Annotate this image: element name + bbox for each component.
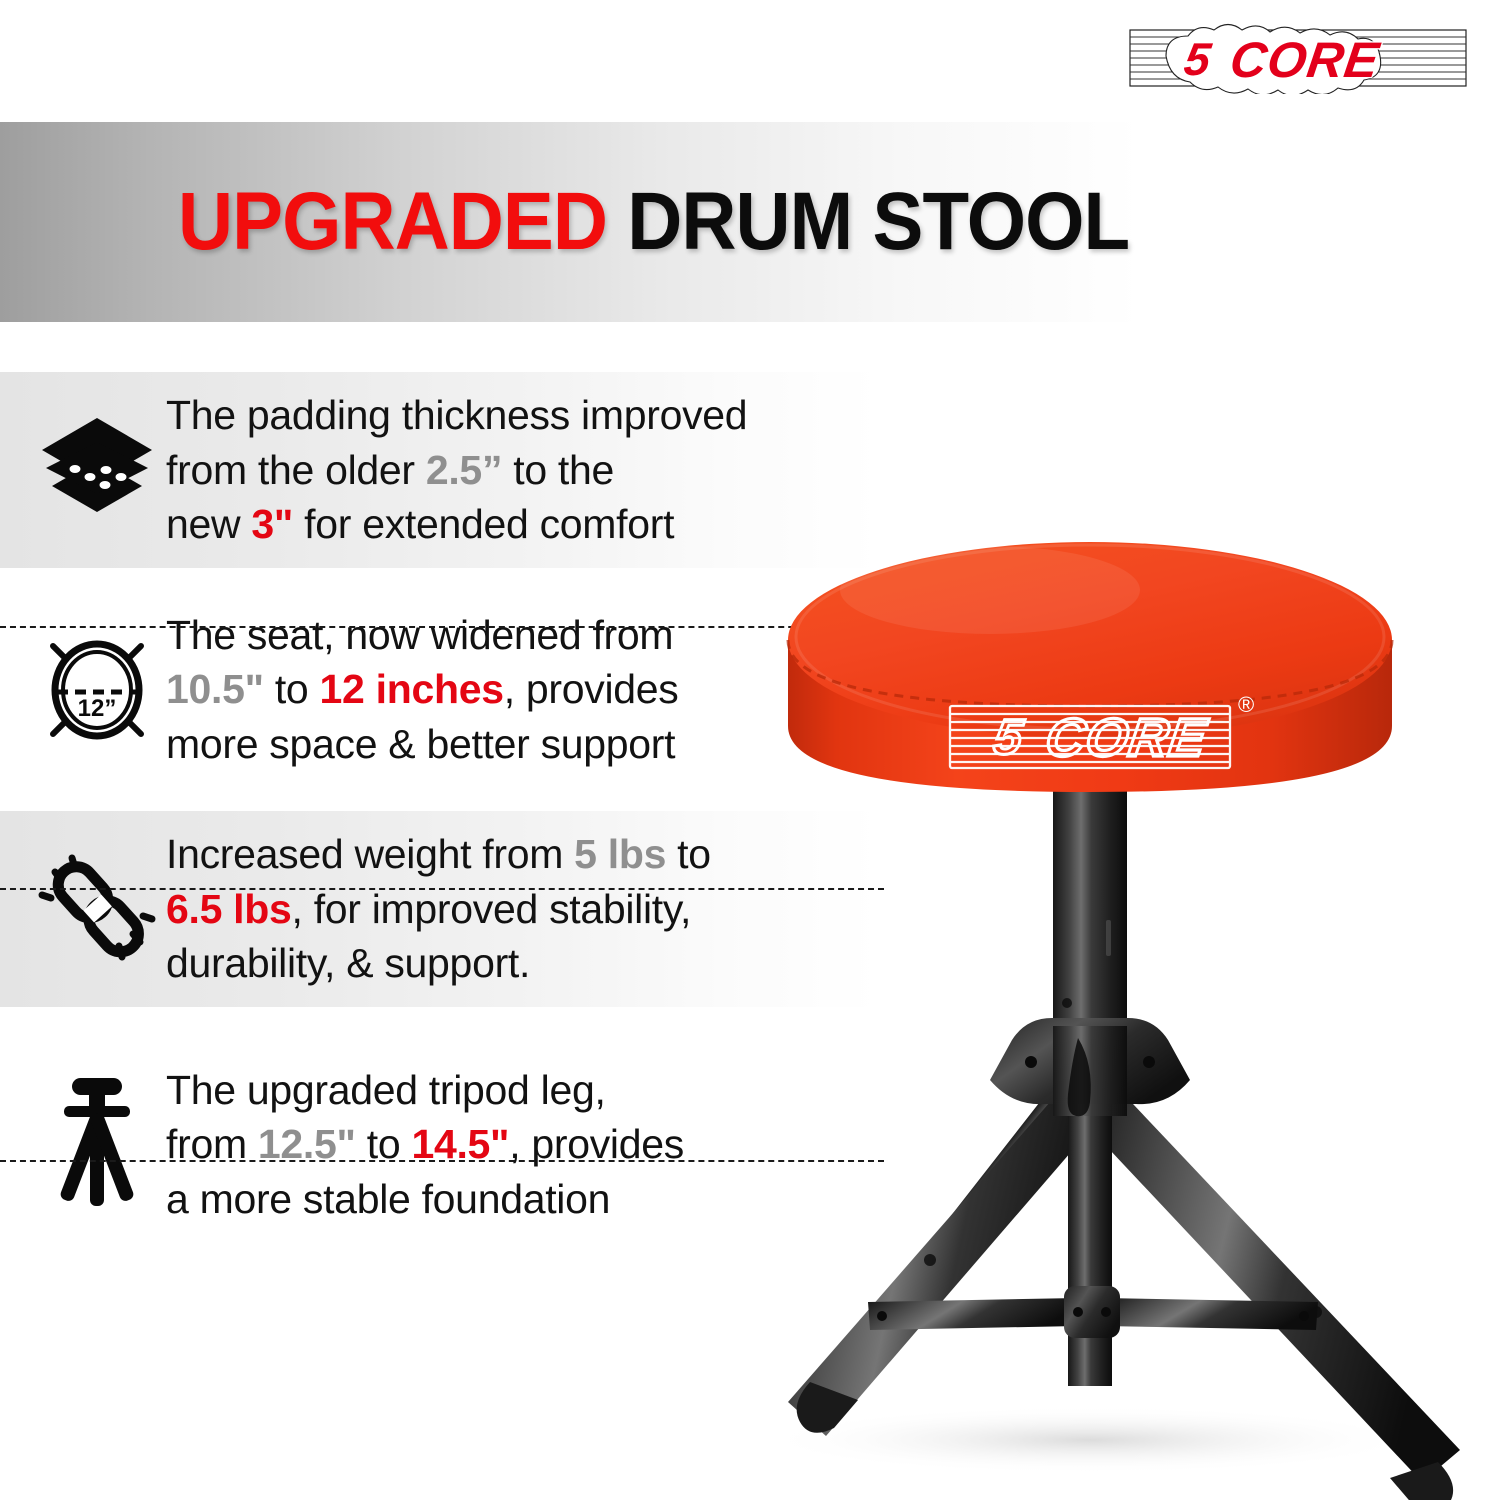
feature-1-line1: The padding thickness improved	[166, 392, 747, 438]
feature-2-mid: to	[264, 666, 320, 712]
leg-foot-right	[1390, 1462, 1453, 1500]
header-band: UPGRADED DRUM STOOL	[0, 122, 1500, 322]
floor-shadow	[760, 1406, 1420, 1474]
logo-text-core: CORE	[1227, 32, 1384, 88]
feature-1-line2-post: to the	[502, 447, 614, 493]
seat-diameter-icon: 12”	[34, 627, 160, 751]
feature-1-new-value: 3"	[251, 501, 293, 547]
feature-text: The upgraded tripod leg, from 12.5" to 1…	[160, 1063, 684, 1227]
brand-logo-svg: 5 CORE	[1128, 22, 1468, 94]
feature-1-old-value: 2.5”	[426, 447, 502, 493]
feature-2-line3: more space & better support	[166, 721, 675, 767]
brace-hub	[1064, 1286, 1120, 1338]
tripod-icon	[34, 1082, 160, 1206]
feature-3-line2-post: , for improved stability,	[292, 886, 692, 932]
feature-3-old-value: 5 lbs	[574, 831, 666, 877]
seat-logo-registered-mark: ®	[1238, 692, 1254, 717]
feature-4-line1: The upgraded tripod leg,	[166, 1067, 606, 1113]
feature-2-line1: The seat, now widened from	[166, 612, 673, 658]
seat-logo-text-core: CORE	[1042, 708, 1211, 768]
feature-3-new-value: 6.5 lbs	[166, 886, 292, 932]
page-title-accent: UPGRADED	[178, 176, 607, 267]
product-image: 5 CORE ®	[660, 440, 1500, 1500]
feature-2-old-value: 10.5"	[166, 666, 264, 712]
feature-2-new-value: 12 inches	[320, 666, 504, 712]
layers-icon	[34, 408, 160, 532]
tripod-hub	[990, 1018, 1190, 1116]
tripod-leg-rear	[1068, 1086, 1112, 1386]
feature-1-line3-pre: new	[166, 501, 251, 547]
feature-2-line2-post: , provides	[504, 666, 679, 712]
feature-1-line2-pre: from the older	[166, 447, 426, 493]
feature-text: Increased weight from 5 lbs to 6.5 lbs, …	[160, 827, 711, 991]
chain-link-icon	[34, 847, 160, 971]
feature-3-line1-pre: Increased weight from	[166, 831, 574, 877]
drum-stool-illustration: 5 CORE ®	[660, 440, 1500, 1500]
feature-1-line3-post: for extended comfort	[293, 501, 674, 547]
page-title-rest: DRUM STOOL	[607, 176, 1129, 267]
feature-4-line3: a more stable foundation	[166, 1176, 610, 1222]
feature-text: The seat, now widened from 10.5" to 12 i…	[160, 608, 678, 772]
page-title: UPGRADED DRUM STOOL	[178, 175, 1129, 269]
brand-logo: 5 CORE	[1128, 22, 1468, 94]
seat-diameter-label: 12”	[78, 695, 117, 722]
feature-3-line3: durability, & support.	[166, 940, 530, 986]
